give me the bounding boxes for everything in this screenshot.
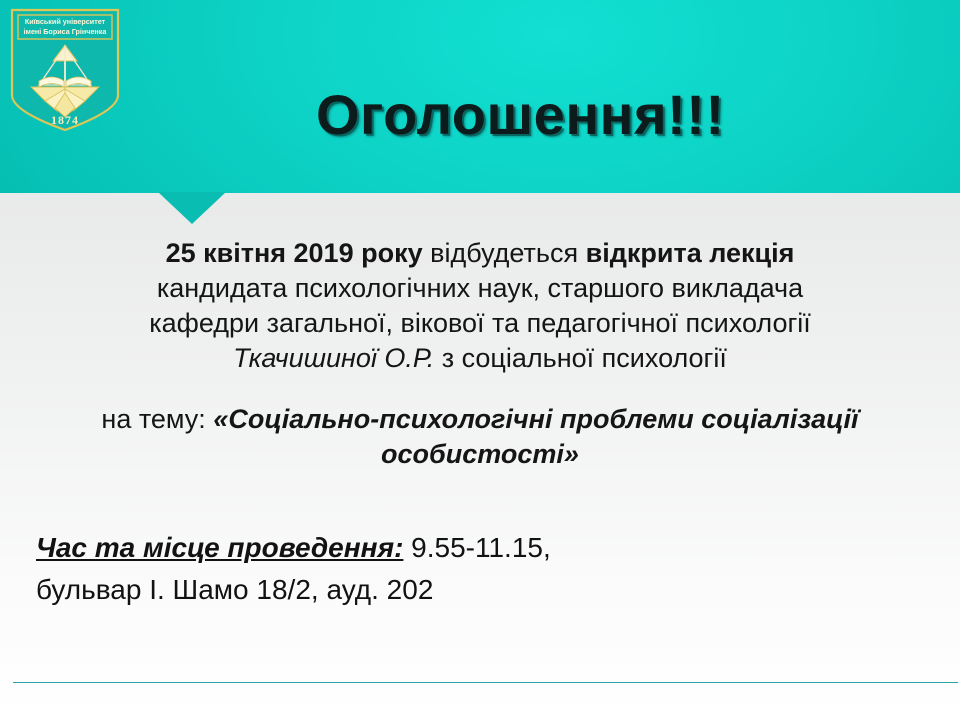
- lecturer-name: Ткачишиної О.Р.: [233, 343, 434, 373]
- lecture-field: з соціальної психології: [434, 343, 727, 373]
- lecture-topic-paragraph: на тему: «Соціально-психологічні проблем…: [0, 402, 960, 472]
- crest-text-line-2: імені Бориса Грінченка: [24, 27, 108, 36]
- lecture-intro-text: відбудеться: [423, 238, 586, 268]
- footer-divider: [13, 682, 958, 683]
- announcement-body: 25 квітня 2019 року відбудеться відкрита…: [0, 236, 960, 472]
- lecturer-degree-line: кандидата психологічних наук, старшого в…: [157, 273, 803, 303]
- topic-lead-label: на тему:: [101, 404, 213, 434]
- crest-founding-year: 1874: [51, 113, 79, 127]
- announcement-slide: Оголошення!!! Київський університет імен…: [0, 0, 960, 720]
- venue-address: бульвар І. Шамо 18/2, ауд. 202: [36, 574, 433, 605]
- venue-time: 9.55-11.15,: [403, 532, 550, 563]
- university-crest-logo: Київський університет імені Бориса Грінч…: [9, 7, 121, 133]
- lecture-date: 25 квітня 2019 року: [166, 238, 423, 268]
- lecturer-department-line: кафедри загальної, вікової та педагогічн…: [149, 308, 811, 338]
- lecture-type: відкрита лекція: [586, 238, 795, 268]
- crest-text-line-1: Київський університет: [25, 17, 106, 26]
- page-title: Оголошення!!!: [316, 82, 725, 147]
- banner-pointer-tail: [158, 192, 226, 224]
- venue-label: Час та місце проведення:: [36, 532, 403, 563]
- topic-title: «Соціально-психологічні проблеми соціалі…: [213, 404, 858, 469]
- venue-block: Час та місце проведення: 9.55-11.15, бул…: [36, 527, 926, 611]
- lecture-description-paragraph: 25 квітня 2019 року відбудеться відкрита…: [0, 236, 960, 376]
